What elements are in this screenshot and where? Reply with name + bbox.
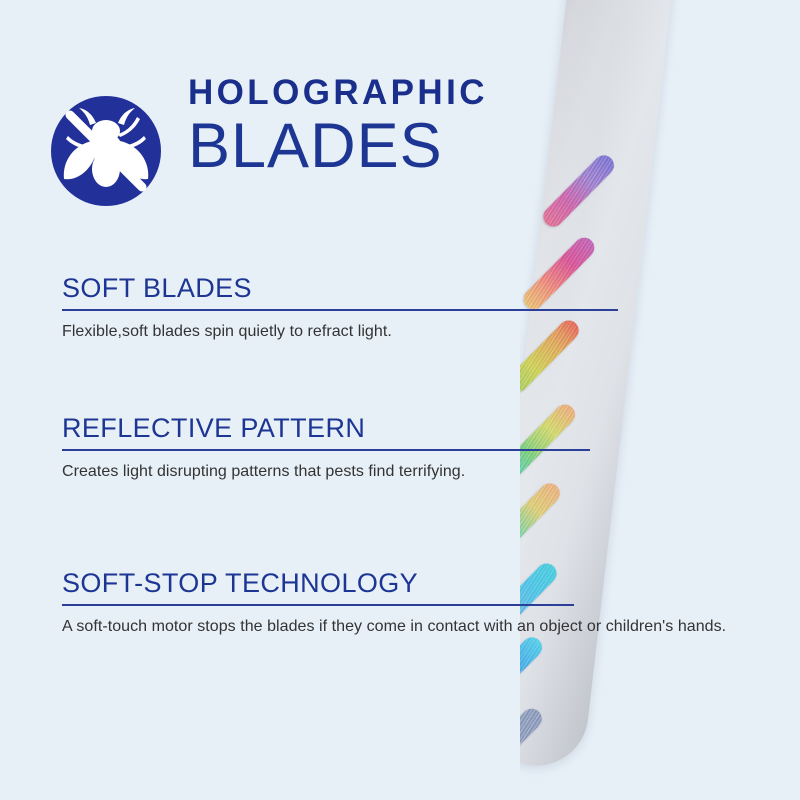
holographic-sheen: [539, 151, 618, 231]
page-title: BLADES: [188, 112, 528, 180]
holographic-strip: [520, 705, 546, 785]
feature-body: A soft-touch motor stops the blades if t…: [62, 615, 726, 638]
feature-divider: [62, 449, 590, 451]
holographic-sheen: [520, 705, 546, 785]
feature-body: Flexible,soft blades spin quietly to ref…: [62, 320, 618, 343]
holographic-strip: [539, 151, 618, 231]
holographic-sheen: [520, 633, 546, 713]
feature-block-reflective-pattern: REFLECTIVE PATTERN Creates light disrupt…: [62, 412, 590, 483]
feature-block-soft-blades: SOFT BLADES Flexible,soft blades spin qu…: [62, 272, 618, 343]
feature-title: SOFT-STOP TECHNOLOGY: [62, 567, 726, 599]
feature-block-soft-stop-technology: SOFT-STOP TECHNOLOGY A soft-touch motor …: [62, 567, 726, 638]
feature-title: REFLECTIVE PATTERN: [62, 412, 590, 444]
holographic-sheen: [520, 479, 564, 559]
product-photo: [520, 0, 800, 800]
holographic-strip: [520, 633, 546, 713]
feature-body: Creates light disrupting patterns that p…: [62, 460, 590, 483]
no-fly-badge-icon: [48, 93, 164, 209]
title-top: HOLOGRAPHIC: [188, 72, 528, 114]
feature-divider: [62, 604, 574, 606]
feature-divider: [62, 309, 618, 311]
infographic-canvas: HOLOGRAPHIC BLADES SOFT BLADES Flexible,…: [0, 0, 800, 800]
header-text: HOLOGRAPHIC BLADES: [188, 72, 528, 180]
feature-title: SOFT BLADES: [62, 272, 618, 304]
holographic-strip: [520, 479, 564, 559]
holographic-strip-group: [520, 0, 673, 771]
